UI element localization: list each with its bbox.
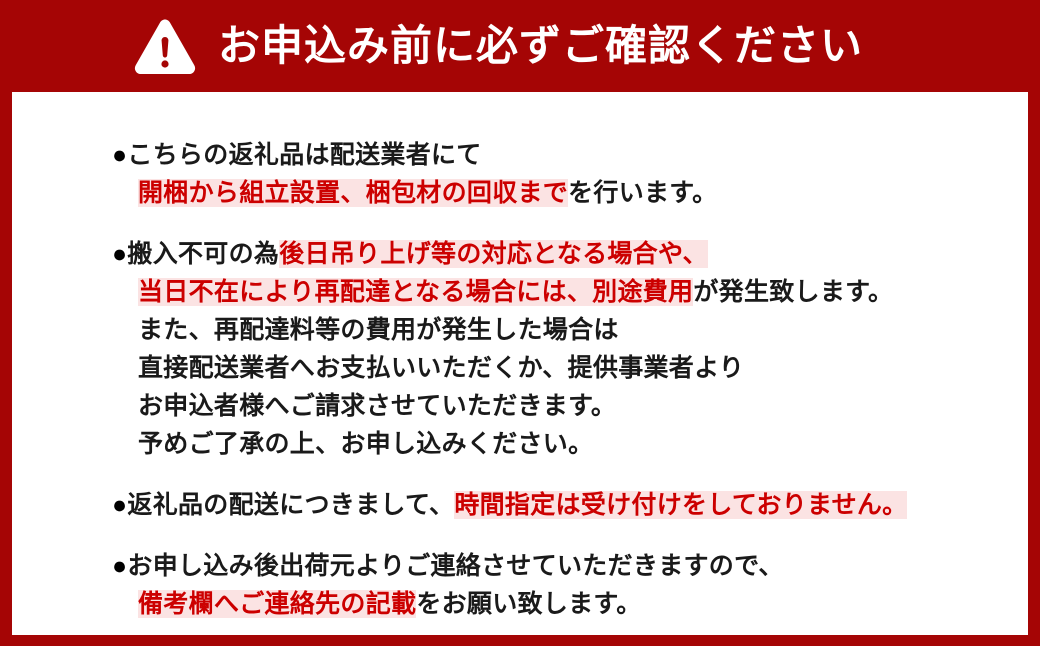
notice-item: ●こちらの返礼品は配送業者にて 開梱から組立設置、梱包材の回収までを行います。 [12,136,1028,212]
bullet-marker: ● [112,491,127,519]
notice-line: ●搬入不可の為後日吊り上げ等の対応となる場合や、 [112,235,1028,273]
notice-line: 開梱から組立設置、梱包材の回収までを行います。 [112,174,1028,212]
warning-triangle-icon [134,18,196,74]
highlighted-text: 後日吊り上げ等の対応となる場合や、 [279,240,708,268]
notice-text: また、再配達料等の費用が発生した場合は [138,316,619,344]
notice-line: 予めご了承の上、お申し込みください。 [112,425,1028,463]
notice-text: が発生致します。 [693,278,893,306]
bullet-marker: ● [112,240,127,268]
notice-text: お申込者様へご請求させていただきます。 [138,392,616,420]
notice-header: お申込み前に必ずご確認ください [0,0,1040,92]
notice-item: ●返礼品の配送につきまして、時間指定は受け付けをしておりません。 [12,486,1028,524]
notice-line: 直接配送業者へお支払いいただくか、提供事業者より [112,349,1028,387]
notice-line: 備考欄へご連絡先の記載をお願い致します。 [112,585,1028,623]
notice-line: 当日不在により再配達となる場合には、別途費用が発生致します。 [112,273,1028,311]
notice-line: ●お申し込み後出荷元よりご連絡させていただきますので、 [112,547,1028,585]
notice-text: 予めご了承の上、お申し込みください。 [138,430,593,458]
notice-line: また、再配達料等の費用が発生した場合は [112,311,1028,349]
notice-item: ●お申し込み後出荷元よりご連絡させていただきますので、 備考欄へご連絡先の記載を… [12,547,1028,623]
page-title: お申込み前に必ずご確認ください [218,25,863,67]
highlighted-text: 備考欄へご連絡先の記載 [138,590,416,618]
notice-text: 返礼品の配送につきまして、 [127,491,454,519]
notice-text: を行います。 [568,179,717,207]
highlighted-text: 当日不在により再配達となる場合には、別途費用 [138,278,693,306]
notice-line: ●こちらの返礼品は配送業者にて [112,136,1028,174]
notice-text: お申し込み後出荷元よりご連絡させていただきますので、 [127,552,783,580]
highlighted-text: 開梱から組立設置、梱包材の回収まで [138,179,568,207]
notice-text: こちらの返礼品は配送業者にて [127,141,481,169]
notice-text: 直接配送業者へお支払いいただくか、提供事業者より [138,354,744,382]
bullet-marker: ● [112,552,127,580]
notice-body: ●こちらの返礼品は配送業者にて 開梱から組立設置、梱包材の回収までを行います。 … [12,92,1028,623]
notice-item: ●搬入不可の為後日吊り上げ等の対応となる場合や、 当日不在により再配達となる場合… [12,235,1028,463]
notice-text: をお願い致します。 [416,590,641,618]
notice-text: 搬入不可の為 [127,240,279,268]
notice-line: お申込者様へご請求させていただきます。 [112,387,1028,425]
notice-card: お申込み前に必ずご確認ください ●こちらの返礼品は配送業者にて 開梱から組立設置… [0,0,1040,646]
bullet-marker: ● [112,141,127,169]
highlighted-text: 時間指定は受け付けをしておりません。 [454,491,907,519]
notice-line: ●返礼品の配送につきまして、時間指定は受け付けをしておりません。 [112,486,1028,524]
